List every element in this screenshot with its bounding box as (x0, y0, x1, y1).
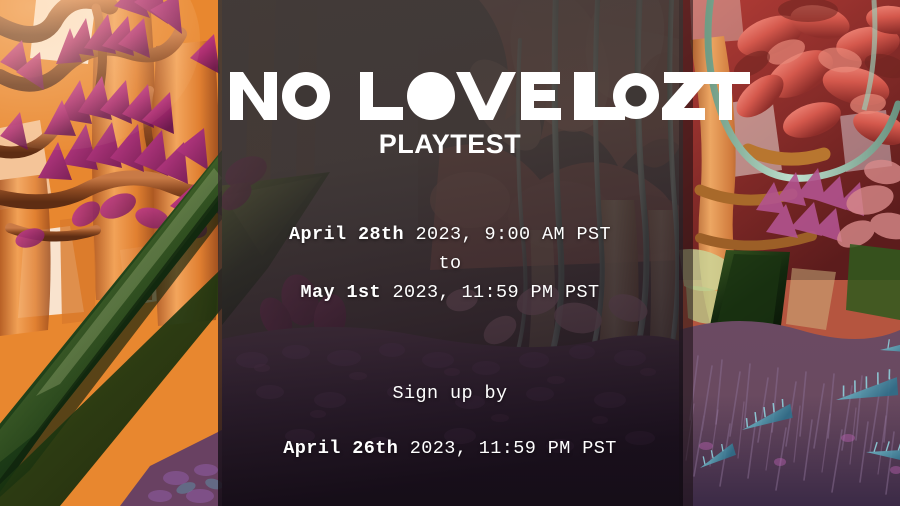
playtest-schedule: April 28th 2023, 9:00 AM PST to May 1st … (289, 220, 611, 307)
schedule-start-row: April 28th 2023, 9:00 AM PST (289, 220, 611, 249)
start-date: April 28th (289, 224, 404, 245)
end-time: 2023, 11:59 PM PST (381, 282, 600, 303)
playtest-subtitle: PLAYTEST (379, 131, 522, 158)
playtest-announcement-poster: NO LOVE LOST (0, 0, 900, 506)
signup-label: Sign up by (283, 379, 617, 408)
schedule-end-row: May 1st 2023, 11:59 PM PST (289, 278, 611, 307)
game-title-logo: NO LOVE LOST (230, 70, 670, 122)
schedule-connector: to (289, 249, 611, 278)
start-time: 2023, 9:00 AM PST (404, 224, 611, 245)
signup-deadline-date: April 26th (283, 438, 398, 459)
poster-content: NO LOVE LOST (0, 0, 900, 506)
signup-deadline-time: 2023, 11:59 PM PST (398, 438, 617, 459)
end-date: May 1st (300, 282, 381, 303)
signup-block: Sign up by April 26th 2023, 11:59 PM PST (283, 379, 617, 463)
signup-deadline-row: April 26th 2023, 11:59 PM PST (283, 434, 617, 463)
